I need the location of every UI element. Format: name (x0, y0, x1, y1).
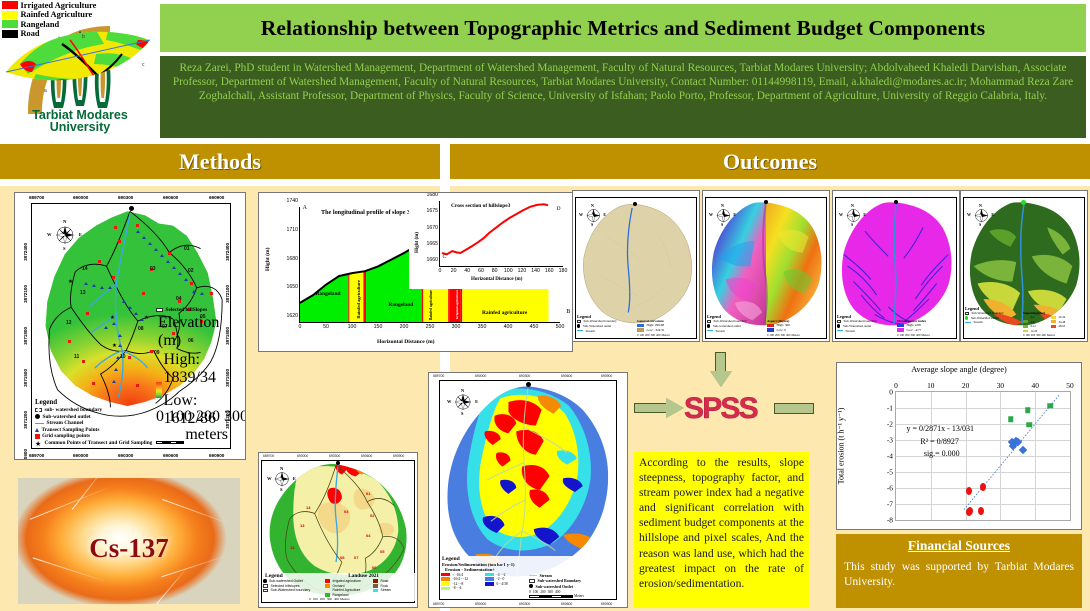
profile-point-b: B (566, 309, 570, 315)
subwatershed-id: 03 (150, 266, 156, 272)
stream-line-icon (529, 575, 537, 576)
band-label: Rangeland (316, 291, 341, 297)
profile-point-a: A (303, 205, 307, 211)
elevation-title: Elevation (m) (158, 314, 228, 350)
legend-item: Sub-Watershed Outlet (965, 316, 1023, 320)
inset-xtick: 100 (504, 268, 513, 274)
road-swatch-icon (373, 579, 378, 583)
legend-item: Low: -4/77 (897, 328, 955, 332)
x-tick: 20 (962, 381, 969, 390)
profile-ytick: 1740 (286, 198, 298, 204)
subwatershed-id: 01 (366, 491, 370, 496)
chart-title: Average slope angle (degree) (837, 365, 1081, 374)
aspect-legend: Legend Sub-Watershed boundary Sub-waters… (707, 314, 825, 337)
poster-title-bar: Relationship between Topographic Metrics… (160, 4, 1086, 52)
y-tick: -3 (887, 436, 893, 445)
subwatershed-id: 01 (184, 246, 190, 252)
data-point (980, 483, 986, 491)
transect-point (128, 306, 132, 309)
legend-item: 0-2 (1023, 315, 1051, 319)
profile-ytick: 1680 (286, 256, 298, 262)
legend-item: Sub-Watershed boundary (577, 319, 637, 323)
class-swatch-icon (441, 582, 450, 586)
subwatershed-id: 13 (80, 290, 86, 296)
map-xtick: 689700 (29, 453, 44, 458)
data-point (978, 507, 984, 515)
transect-point (154, 248, 158, 251)
conclusion-text: According to the results, slope steepnes… (639, 455, 804, 591)
slope-legend: Legend Sub-Watershed boundary Sub-Waters… (965, 306, 1083, 337)
subwatershed-id: 03 (344, 509, 348, 514)
section-label-outcomes: Outcomes (723, 149, 817, 175)
spss-analysis-flow: SPSS (632, 352, 812, 452)
landuse-title: Landuse 2021 (348, 573, 379, 579)
legend-item: Orchard (325, 584, 373, 588)
legend-item: < -16/4 (441, 573, 485, 577)
svg-text:a: a (44, 88, 47, 94)
stream-power-index-map: NS EW Legend Sub-Watershed boundary Sub-… (832, 190, 960, 342)
hillslope-lens-shape: a c b (0, 18, 160, 94)
map-ytick: 3871800 (23, 327, 28, 345)
financial-body: This study was supported by Tarbiat Moda… (844, 560, 1074, 589)
legend-item: Sub-watershed Boundary (529, 578, 601, 583)
legend-item: Sub-Watershed boundary (707, 319, 767, 323)
legend-item: Sub-Watershed outlet (837, 324, 897, 328)
grid-point (128, 356, 131, 359)
map-xtick: 690900 (209, 195, 224, 200)
profile-xlabel: Horizontal Distance (m) (377, 339, 434, 345)
map-xtick: 690000 (73, 453, 88, 458)
class-swatch-icon (485, 582, 494, 586)
y-tick: -4 (887, 452, 893, 461)
inset-xtick: 60 (478, 268, 484, 274)
inset-plot-area: 1660 1665 1670 1675 1680 0 20 40 60 80 1… (439, 201, 563, 267)
transect-point (166, 260, 170, 263)
transect-point (122, 300, 126, 303)
value-title: General curvature (637, 319, 695, 323)
svg-text:b: b (82, 34, 85, 40)
subwatershed-id: 04 (366, 533, 370, 538)
common-point: ★ (144, 316, 149, 322)
watershed-legend: Legend sub- watershed boundary Sub-water… (35, 398, 165, 446)
boundary-swatch-icon (263, 589, 268, 593)
legend-item: Sub-watershed Outlet (263, 579, 325, 583)
x-tick: 30 (997, 381, 1004, 390)
irrigated-swatch-icon (2, 1, 18, 9)
class-swatch-icon (1051, 316, 1056, 319)
map-ytick: 3870900 (23, 449, 28, 460)
scatter-plot-area: 0 10 20 30 40 50 0 -1 -2 -3 -4 -5 -6 -7 … (895, 391, 1071, 521)
y-tick: -2 (887, 420, 893, 429)
profile-xtick: 50 (323, 324, 329, 330)
curvature-legend: Legend Sub-Watershed boundary Sub-Waters… (577, 314, 695, 337)
inset-xtick: 40 (464, 268, 470, 274)
legend-item: High: 360 (767, 323, 825, 327)
class-swatch-icon (1023, 320, 1028, 323)
transect-point (142, 236, 146, 239)
square-icon (35, 434, 40, 439)
transect-point (114, 368, 118, 371)
grid-point (92, 382, 95, 385)
stream-line-icon (577, 330, 583, 331)
map-xtick: 690900 (209, 453, 224, 458)
band-label: Rainfed agriculture (429, 290, 433, 320)
legend-item: -2 - 0 (485, 577, 529, 581)
low-swatch-icon (767, 328, 774, 331)
map-xtick: 689700 (29, 195, 44, 200)
subwatershed-id: 08 (138, 326, 144, 332)
inset-ytick: 1680 (426, 192, 438, 198)
inset-ytick: 1675 (426, 208, 438, 214)
legend-item: Grid sampling points (35, 433, 165, 439)
landuse-2021-map: 689700 690000 690300 690600 690900 (258, 452, 418, 608)
legend-item: Sub-watershed outlet (707, 324, 767, 328)
legend-item: High: 2/68 (897, 323, 955, 327)
class-swatch-icon (1023, 325, 1028, 328)
transect-point (104, 326, 108, 329)
rainfed-swatch-icon (325, 589, 330, 593)
x-tick: 0 (894, 381, 898, 390)
x-tick: 50 (1066, 381, 1073, 390)
class-swatch-icon (1051, 325, 1056, 328)
inset-xtick: 120 (518, 268, 527, 274)
stream-line-icon (837, 330, 843, 331)
inset-xtick: 80 (492, 268, 498, 274)
financial-title: Financial Sources (844, 538, 1074, 554)
class-swatch-icon (1023, 330, 1028, 333)
svg-text:c: c (142, 62, 145, 68)
profile-xtick: 350 (478, 324, 487, 330)
subwatershed-id: 05 (380, 549, 384, 554)
grid-point (86, 312, 89, 315)
outlet-dot-icon (837, 324, 840, 327)
compass-west: W (267, 476, 272, 481)
legend-item: Selected hillSlopes (156, 307, 228, 313)
watershed-outlet (1021, 200, 1026, 205)
boundary-swatch-icon (707, 320, 711, 323)
x-tick: 10 (927, 381, 934, 390)
subwatershed-id: 06 (372, 565, 376, 570)
inset-xtick: 0 (439, 268, 442, 274)
conclusion-text-box: According to the results, slope steepnes… (634, 452, 809, 608)
inset-point-c: C (442, 254, 446, 260)
elevation-color-ramp (156, 382, 162, 398)
subwatershed-id: 02 (370, 513, 374, 518)
y-tick: 0 (889, 388, 893, 397)
value-title: Stream power index (897, 319, 955, 323)
legend-item: Sub-Watershed boundary (263, 588, 325, 592)
legend-item: Road (373, 579, 407, 583)
section-header-outcomes: Outcomes (450, 144, 1090, 179)
legend-item: Stream (707, 329, 767, 333)
stream-swatch-icon (373, 589, 378, 593)
band-label: Rainfed agriculture (356, 280, 361, 319)
legend-item: 48-65 (1051, 324, 1079, 328)
aspect-map: NS EW Legend Sub-Watershed boundary Sub-… (702, 190, 830, 342)
legend-item: Stream (529, 573, 601, 578)
legend-item: High: 296/68 (637, 323, 695, 327)
arrow-left-to-spss-icon (634, 398, 686, 418)
legend-item: Low: -324/31 (637, 328, 695, 332)
legend-item: Low: 0 (767, 328, 825, 332)
data-point (1027, 422, 1033, 428)
map-xtick: 690000 (73, 195, 88, 200)
legend-item: Sub-watershed Outlet (529, 584, 601, 589)
compass-north: N (63, 219, 66, 224)
class-swatch-icon (1051, 320, 1056, 323)
grid-point (168, 252, 171, 255)
logo-text: Tarbiat Modares University (14, 109, 146, 134)
grid-point (68, 340, 71, 343)
common-point: ★ (68, 280, 73, 286)
legend-item: Transect Sampling Points (35, 427, 165, 433)
profile-xtick: 450 (530, 324, 539, 330)
poster-title: Relationship between Topographic Metrics… (261, 16, 985, 41)
scale-bar-graphic (156, 441, 184, 444)
stream-line-icon (707, 330, 713, 331)
compass-rose: N S E W (270, 467, 294, 491)
transect-point (112, 380, 116, 383)
map-xtick: 690600 (163, 195, 178, 200)
legend-item: Stream (837, 329, 897, 333)
inset-ytick: 1670 (426, 225, 438, 231)
subwatershed-id: 12 (66, 320, 72, 326)
erosion-sedimentation-map: 689700 690000 690300 690600 690900 68970… (428, 372, 628, 608)
triangle-icon (35, 428, 39, 432)
outlet-dot-icon (529, 584, 533, 588)
inset-xtick: 140 (531, 268, 540, 274)
grid-point (136, 224, 139, 227)
map-ytick: 3872400 (23, 243, 28, 261)
profile-ylabel: Hight (m) (265, 248, 271, 271)
class-swatch-icon (485, 577, 494, 581)
transect-point (200, 292, 204, 295)
map-ytick: 3872100 (23, 285, 28, 303)
subwatershed-id: 04 (176, 296, 182, 302)
boundary-swatch-icon (529, 579, 535, 583)
legend-item: 2-6 (1023, 320, 1051, 324)
profile-ytick: 1650 (286, 284, 298, 290)
legend-item: Stream (577, 329, 637, 333)
section-header-methods: Methods (0, 144, 440, 179)
legend-item: Sub-Watershed boundary (965, 311, 1023, 315)
transect-point (136, 230, 140, 233)
y-tick: -6 (887, 484, 893, 493)
transect-point (108, 286, 112, 289)
legend-item: 6-12 (1023, 324, 1051, 328)
transect-point (118, 334, 122, 337)
profile-xtick: 250 (426, 324, 435, 330)
low-swatch-icon (897, 328, 904, 331)
high-swatch-icon (637, 324, 644, 327)
compass-east: E (79, 232, 82, 237)
inset-xtick: 20 (451, 268, 457, 274)
outlet-dot-icon (965, 316, 968, 319)
watershed-outlet (526, 382, 531, 387)
cs137-image: Cs-137 (18, 478, 240, 604)
scale-bar: 0 100 200 300 400 meters (156, 408, 228, 444)
map-xtick: 690300 (118, 453, 133, 458)
hillslope-swatch-icon (263, 584, 268, 588)
boundary-swatch-icon (837, 320, 841, 323)
class-swatch-icon (1023, 316, 1028, 319)
inset-curve (440, 201, 563, 266)
data-point (1025, 408, 1031, 414)
data-point (967, 507, 973, 515)
regression-equation: y = 0/2871x - 13/031 (906, 423, 974, 434)
value-title: Aspect (degree) (767, 319, 825, 323)
subwatershed-id: 07 (354, 555, 358, 560)
common-point: ★ (112, 344, 117, 350)
map-ytick: 3871500 (23, 369, 28, 387)
general-curvature-map: NS EW Legend Sub-Watershed boundary Sub-… (572, 190, 700, 342)
watershed-outlet (129, 206, 134, 211)
section-label-methods: Methods (179, 149, 261, 175)
transect-point (134, 312, 138, 315)
band-label: Irrigated agriculture (455, 290, 459, 319)
inset-ytick: 1660 (426, 257, 438, 263)
inset-xtick: 160 (545, 268, 554, 274)
high-swatch-icon (897, 324, 904, 327)
transect-point (172, 266, 176, 269)
legend-item: 34-48 (1051, 320, 1079, 324)
compass-west: W (47, 232, 52, 237)
transect-point (100, 286, 104, 289)
arrow-top-to-spss-icon (710, 352, 732, 388)
common-point: ★ (110, 316, 115, 322)
longitudinal-profile-chart: The longitudinal profile of slope 3 1620… (258, 192, 573, 352)
stream-line-icon (965, 322, 971, 323)
map-xtick: 690600 (163, 453, 178, 458)
inset-point-d: D (557, 206, 561, 212)
transect-point (148, 242, 152, 245)
grid-point (114, 226, 117, 229)
outlet-dot-icon (35, 414, 40, 419)
profile-xtick: 200 (400, 324, 409, 330)
outlet-dot-icon (707, 324, 710, 327)
legend-item: Stream (965, 320, 1023, 324)
subwatershed-id: 08 (340, 555, 344, 560)
legend-item: Stream (373, 588, 407, 592)
rock-swatch-icon (373, 584, 378, 588)
cs137-label: Cs-137 (18, 533, 240, 564)
landuse-map-frame: N S E W 01 02 03 04 05 06 07 08 09 (261, 460, 415, 603)
legend-item: Sub-Watershed outlet (577, 324, 637, 328)
cross-section-inset: Cross section of hillslope3 1660 1665 16… (409, 197, 569, 289)
profile-ytick: 1710 (286, 227, 298, 233)
subwatershed-id: 10 (120, 354, 126, 360)
subwatershed-id: 11 (74, 354, 79, 360)
transect-point (92, 284, 96, 287)
grid-point (82, 360, 85, 363)
legend-item: Rainfed Agriculture (325, 588, 373, 592)
inset-xlabel: Horizontal Distance (m) (471, 277, 522, 282)
class-swatch-icon (441, 573, 450, 577)
legend-item: ★ Common Points of Transect and Grid Sam… (35, 440, 165, 446)
transect-point (192, 290, 196, 293)
watershed-outlet (764, 200, 768, 204)
irrigated-swatch-icon (325, 579, 330, 583)
subwatershed-id: 14 (82, 266, 88, 272)
trend-line (896, 392, 1070, 520)
transect-point (112, 322, 116, 325)
slope-degree-map: NS EW Legend Sub-Watershed boundary Sub-… (960, 190, 1088, 342)
transect-point (84, 282, 88, 285)
y-axis-label: Total erosion (t h⁻¹ y⁻¹) (837, 408, 846, 485)
map-xtick: 690300 (118, 195, 133, 200)
high-swatch-icon (767, 324, 774, 327)
grid-point (190, 282, 193, 285)
legend-item: -12 - -8 (441, 582, 485, 586)
watershed-outlet (633, 202, 637, 206)
authors-text: Reza Zarei, PhD student in Watershed Man… (168, 61, 1078, 104)
profile-xtick: 500 (556, 324, 565, 330)
financial-sources-box: Financial Sources This study was support… (836, 534, 1082, 608)
erosion-map-frame: NS EW Legend Erosion/Sedimentation (ton … (439, 380, 617, 600)
data-point (1047, 403, 1053, 409)
outlet-dot-icon (263, 579, 267, 583)
grid-point (210, 292, 213, 295)
boundary-swatch-icon (965, 312, 969, 315)
x-tick: 40 (1031, 381, 1038, 390)
transect-point (118, 344, 122, 347)
y-tick: -7 (887, 500, 893, 509)
profile-xtick: 150 (374, 324, 383, 330)
watershed-outlet (894, 200, 898, 204)
compass-south: S (280, 487, 283, 492)
legend-item: 0 - 4/38 (485, 582, 529, 586)
inset-ytick: 1665 (426, 241, 438, 247)
grid-point (142, 292, 145, 295)
subwatershed-id: 13 (300, 523, 304, 528)
compass-rose: NS EW (450, 389, 476, 415)
watershed-outlet (336, 461, 340, 465)
star-icon: ★ (35, 441, 42, 446)
profile-xtick: 100 (348, 324, 357, 330)
profile-xtick: 400 (504, 324, 513, 330)
map-frame: ★ ★ ★ ★ N S E W (31, 203, 231, 449)
compass-rose: NS EW (582, 204, 604, 226)
data-point (966, 487, 972, 495)
grid-point (150, 350, 153, 353)
subwatershed-id: 12 (290, 545, 294, 550)
legend-item: -8 - -4 (441, 586, 485, 590)
transect-point (160, 254, 164, 257)
hillslope-swatch-icon (156, 308, 163, 313)
compass-rose: NS EW (970, 204, 992, 226)
boundary-swatch-icon (577, 320, 581, 323)
outlet-dot-icon (577, 324, 580, 327)
compass-east: E (293, 476, 296, 481)
spss-logo: SPSS (684, 392, 757, 426)
compass-south: S (63, 246, 66, 251)
legend-item: -4 - -2 (485, 573, 529, 577)
y-tick: -8 (887, 516, 893, 525)
boundary-swatch-icon (35, 408, 42, 413)
inset-ylabel: Hight (m) (415, 232, 420, 253)
legend-item: sub- watershed boundary (35, 407, 165, 413)
compass-rose: NS EW (842, 204, 864, 226)
grid-point (112, 276, 115, 279)
erosion-legend: Legend Erosion/Sedimentation (ton ha-1 y… (441, 556, 615, 598)
authors-bar: Reza Zarei, PhD student in Watershed Man… (160, 56, 1086, 138)
compass-rose: NS EW (712, 204, 734, 226)
grid-point (98, 260, 101, 263)
arrow-spss-to-results-icon (774, 403, 814, 414)
grid-point (136, 384, 139, 387)
grid-point (118, 240, 121, 243)
transect-point (184, 278, 188, 281)
